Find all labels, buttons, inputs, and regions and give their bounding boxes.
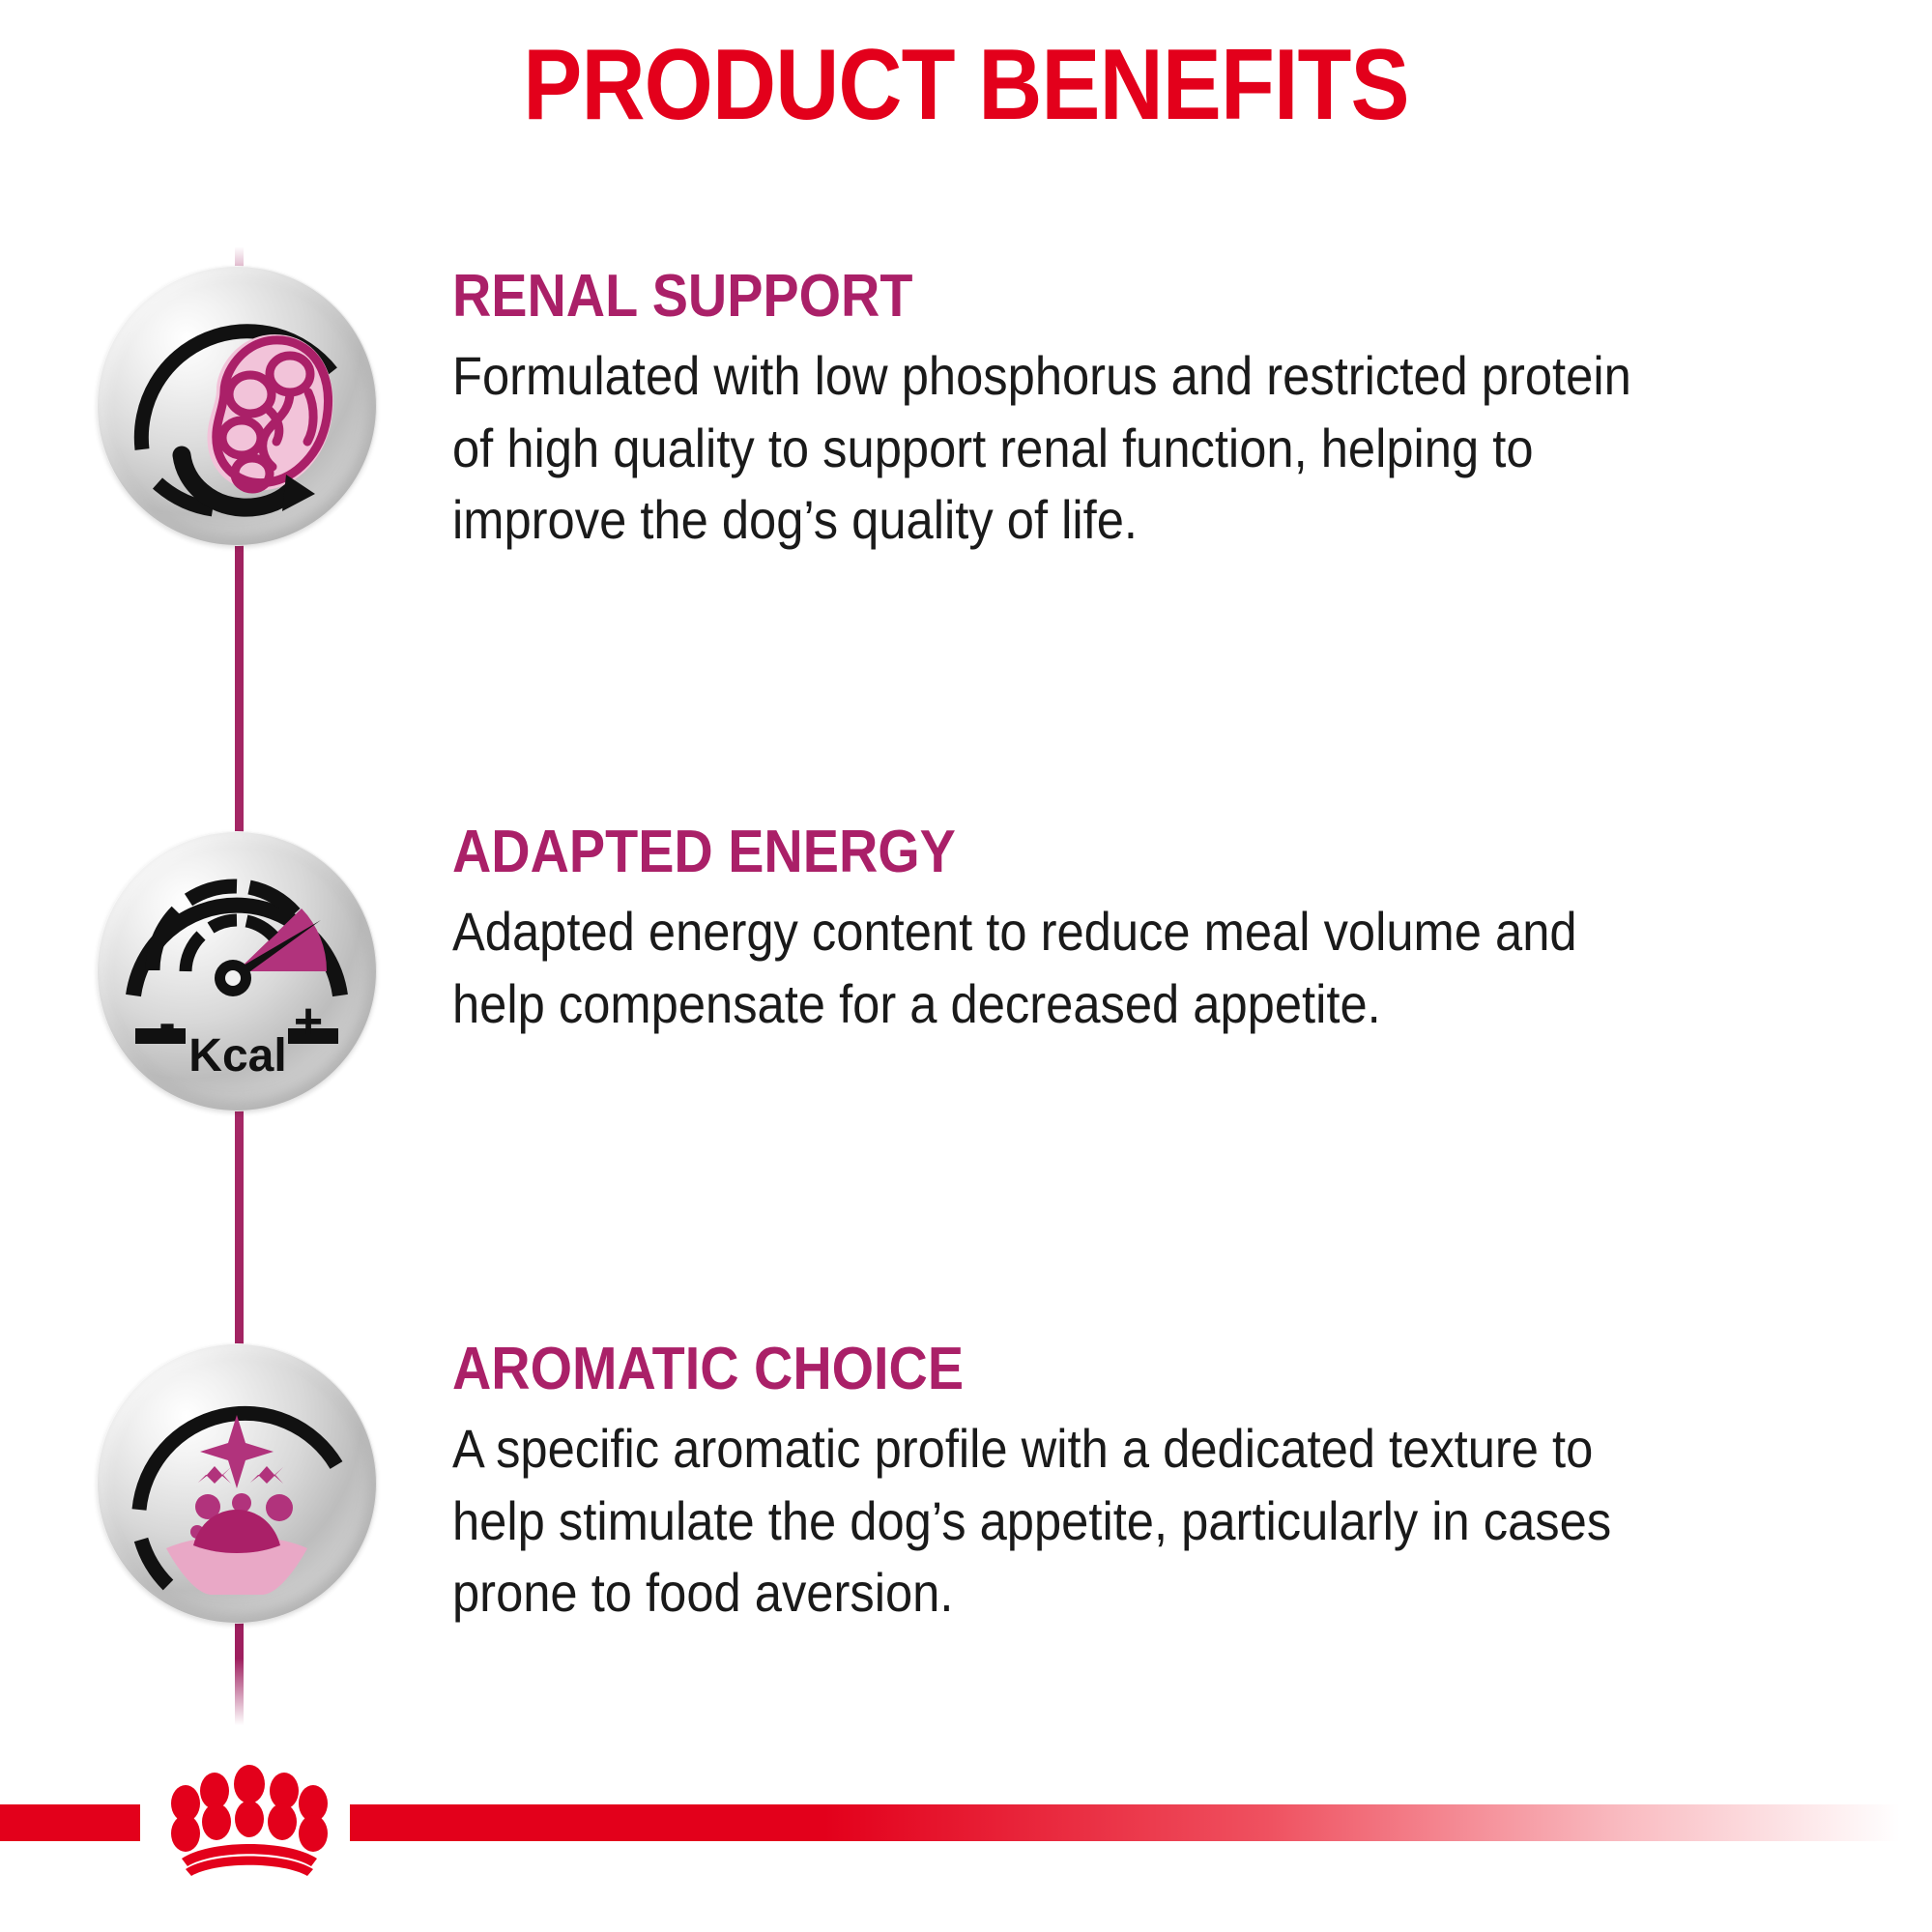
crown-icon — [137, 1760, 361, 1876]
gauge-plus-label: + — [294, 994, 323, 1050]
benefit-body: Formulated with low phosphorus and restr… — [452, 340, 1746, 556]
benefit-heading: ADAPTED ENERGY — [452, 822, 1740, 882]
silver-disc: - + Kcal — [97, 831, 377, 1111]
benefits-list: RENAL SUPPORT Formulated with low phosph… — [0, 0, 1932, 1932]
silver-disc — [97, 266, 377, 546]
silver-disc — [97, 1343, 377, 1624]
product-benefits-page: PRODUCT BENEFITS — [0, 0, 1932, 1932]
footer-bar-left — [0, 1804, 140, 1841]
benefit-text-block: ADAPTED ENERGY Adapted energy content to… — [452, 822, 1883, 1040]
kcal-gauge-icon: - + Kcal — [97, 831, 377, 1111]
benefit-body: Adapted energy content to reduce meal vo… — [452, 896, 1746, 1040]
royal-canin-crown-logo — [137, 1760, 361, 1876]
benefit-icon-badge: - + Kcal — [97, 831, 377, 1111]
benefit-body: A specific aromatic profile with a dedic… — [452, 1413, 1746, 1629]
benefit-text-block: AROMATIC CHOICE A specific aromatic prof… — [452, 1339, 1883, 1629]
benefit-heading: RENAL SUPPORT — [452, 266, 1740, 327]
kidney-renal-icon — [97, 266, 377, 546]
gauge-minus-label: - — [159, 995, 175, 1052]
food-bowl-aroma-icon — [97, 1343, 377, 1624]
benefit-icon-badge — [97, 266, 377, 546]
footer-bar-right — [350, 1804, 1932, 1841]
benefit-icon-badge — [97, 1343, 377, 1624]
footer — [0, 1760, 1932, 1876]
benefit-text-block: RENAL SUPPORT Formulated with low phosph… — [452, 266, 1883, 557]
gauge-unit-label: Kcal — [188, 1030, 286, 1081]
benefit-heading: AROMATIC CHOICE — [452, 1339, 1740, 1399]
